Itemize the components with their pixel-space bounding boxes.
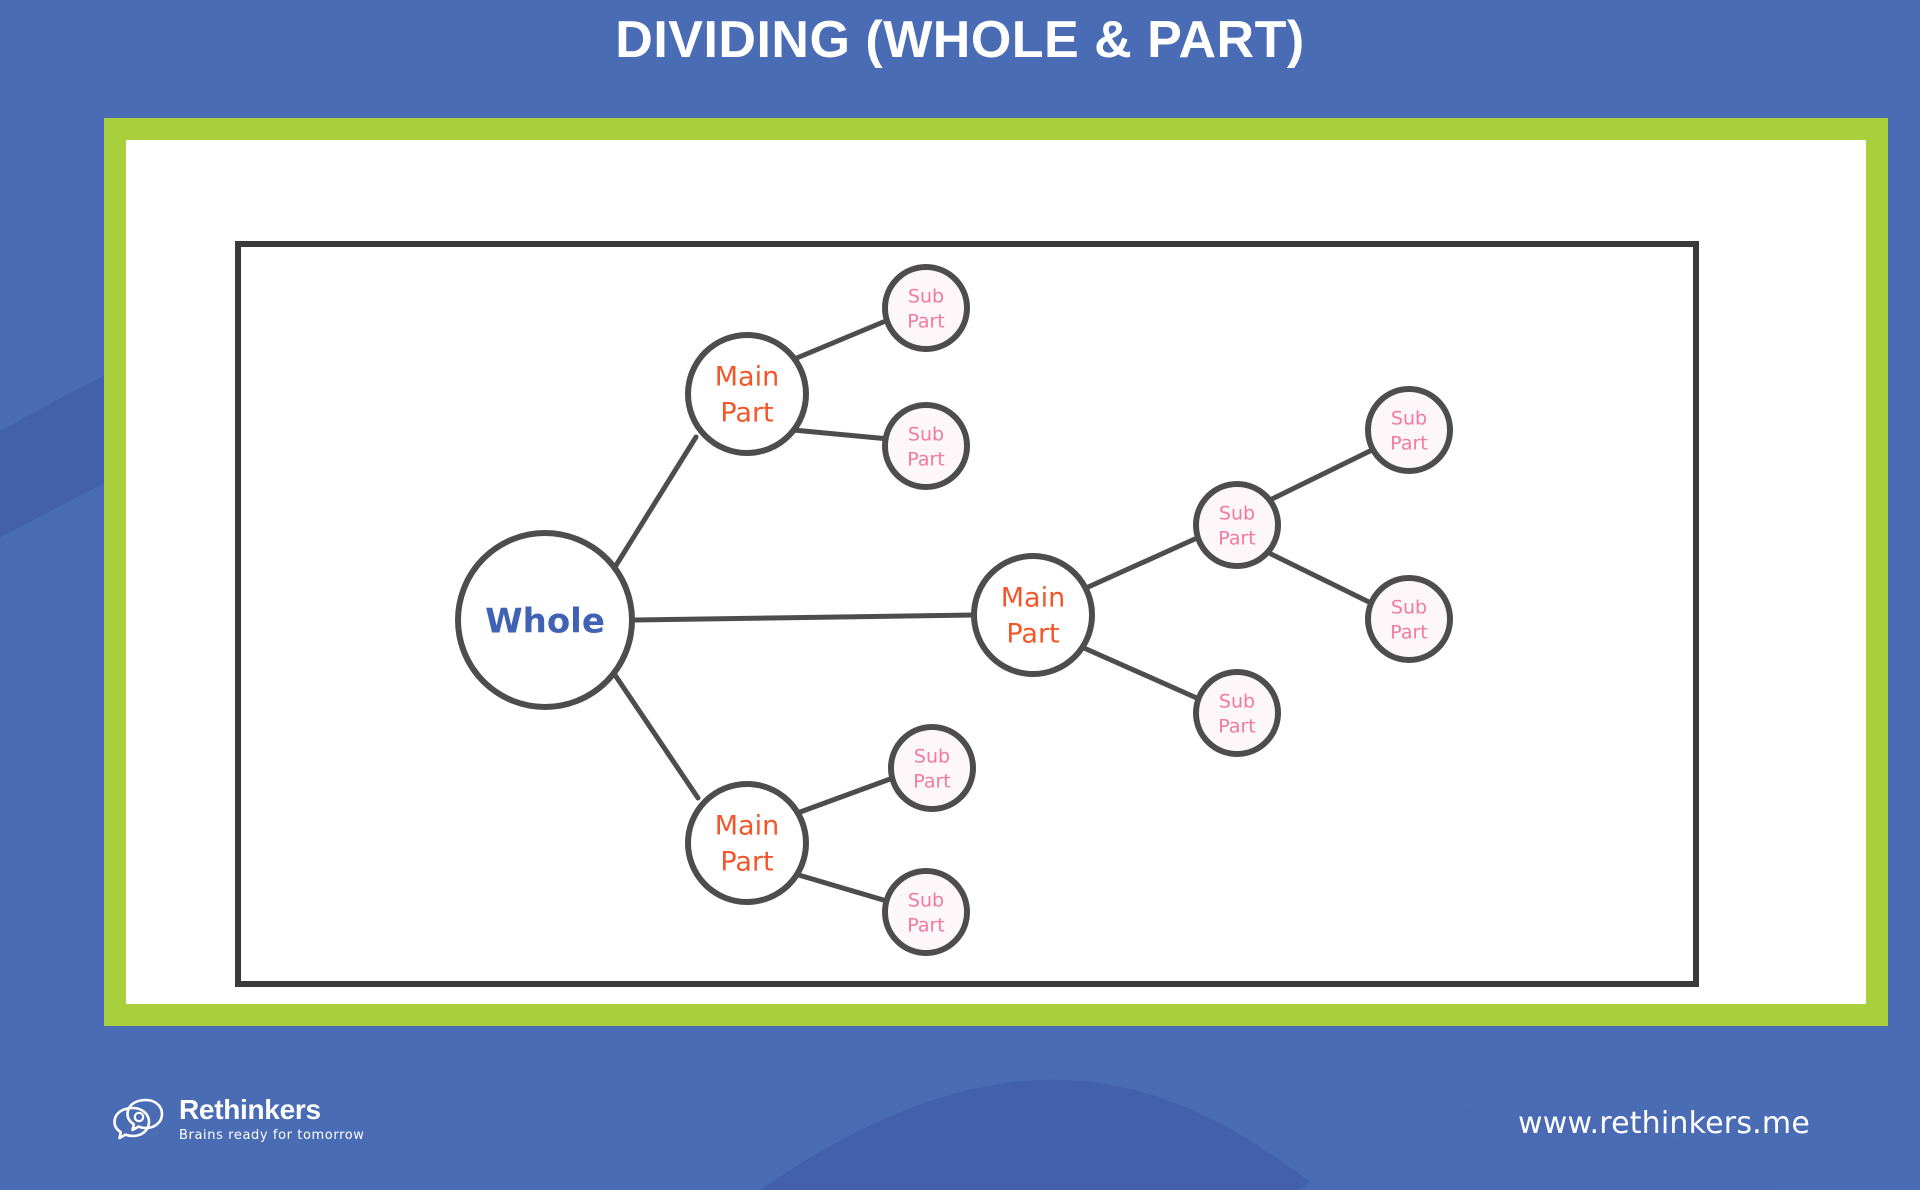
node-sub-3[interactable]: Sub Part <box>1196 484 1278 566</box>
sub-5-circle[interactable] <box>1368 578 1450 660</box>
edge-main-top-to-sub-1 <box>792 320 888 360</box>
swoosh-bottom-a <box>760 1080 1320 1190</box>
sub-6-label-line2: Part <box>1218 716 1256 738</box>
sub-5-label-line1: Sub <box>1391 597 1427 619</box>
node-sub-6[interactable]: Sub Part <box>1196 672 1278 754</box>
sub-7-label-line2: Part <box>913 771 951 793</box>
main-top-circle[interactable] <box>688 335 806 453</box>
sub-6-circle[interactable] <box>1196 672 1278 754</box>
sub-3-label-line1: Sub <box>1219 503 1255 525</box>
edge-main-top-to-sub-2 <box>793 430 889 439</box>
sub-1-label-line2: Part <box>907 311 945 333</box>
slide-canvas: DIVIDING (WHOLE & PART) <box>0 0 1920 1190</box>
root-label: Whole <box>485 602 605 642</box>
edge-sub-upper-to-sub-b <box>1271 554 1373 604</box>
sub-4-label-line2: Part <box>1390 433 1428 455</box>
logo-tagline: Brains ready for tomorrow <box>179 1129 365 1142</box>
main-right-circle[interactable] <box>974 556 1092 674</box>
sub-2-circle[interactable] <box>885 405 967 487</box>
logo-name: Rethinkers <box>179 1096 365 1124</box>
sub-4-circle[interactable] <box>1368 389 1450 471</box>
page-title: DIVIDING (WHOLE & PART) <box>0 12 1920 69</box>
edge-sub-upper-to-sub-a <box>1272 450 1372 499</box>
main-bottom-label-line1: Main <box>715 811 779 842</box>
edge-main-right-to-sub-upper <box>1086 538 1197 588</box>
node-root[interactable]: Whole <box>458 533 632 707</box>
node-main-right[interactable]: Main Part <box>974 556 1092 674</box>
sub-2-label-line2: Part <box>907 449 945 471</box>
sub-1-circle[interactable] <box>885 267 967 349</box>
main-bottom-label-line2: Part <box>720 847 773 878</box>
main-top-label-line2: Part <box>720 398 773 429</box>
node-sub-4[interactable]: Sub Part <box>1368 389 1450 471</box>
sub-3-label-line2: Part <box>1218 528 1256 550</box>
edge-main-right-to-sub-lower <box>1084 648 1199 699</box>
sub-8-label-line1: Sub <box>908 890 944 912</box>
sub-3-circle[interactable] <box>1196 484 1278 566</box>
node-sub-5[interactable]: Sub Part <box>1368 578 1450 660</box>
node-sub-7[interactable]: Sub Part <box>891 727 973 809</box>
edge-root-to-main-right <box>632 615 974 620</box>
sub-2-label-line1: Sub <box>908 424 944 446</box>
sub-8-label-line2: Part <box>907 915 945 937</box>
main-top-label-line1: Main <box>715 362 779 393</box>
logo-wordmark: Rethinkers Brains ready for tomorrow <box>179 1096 365 1142</box>
diagram-border-box: Whole Main Part Main Part Main <box>235 241 1699 987</box>
footer-logo[interactable]: Rethinkers Brains ready for tomorrow <box>112 1095 365 1143</box>
main-right-label-line1: Main <box>1001 583 1065 614</box>
green-frame: Whole Main Part Main Part Main <box>104 118 1888 1026</box>
sub-8-circle[interactable] <box>885 871 967 953</box>
node-sub-2[interactable]: Sub Part <box>885 405 967 487</box>
sub-5-label-line2: Part <box>1390 622 1428 644</box>
white-panel: Whole Main Part Main Part Main <box>126 140 1866 1004</box>
edge-root-to-main-bottom <box>615 675 698 798</box>
sub-1-label-line1: Sub <box>908 286 944 308</box>
node-sub-8[interactable]: Sub Part <box>885 871 967 953</box>
sub-4-label-line1: Sub <box>1391 408 1427 430</box>
node-main-bottom[interactable]: Main Part <box>688 784 806 902</box>
sub-7-label-line1: Sub <box>914 746 950 768</box>
edge-main-bottom-to-sub-1 <box>792 778 893 815</box>
main-right-label-line2: Part <box>1006 619 1059 650</box>
mindmap-svg: Whole Main Part Main Part Main <box>241 247 1693 981</box>
footer-url[interactable]: www.rethinkers.me <box>1518 1106 1810 1141</box>
main-bottom-circle[interactable] <box>688 784 806 902</box>
rethinkers-brain-icon <box>112 1095 166 1143</box>
edge-main-bottom-to-sub-2 <box>792 873 890 902</box>
node-sub-1[interactable]: Sub Part <box>885 267 967 349</box>
edge-root-to-main-top <box>615 437 696 567</box>
sub-6-label-line1: Sub <box>1219 691 1255 713</box>
node-main-top[interactable]: Main Part <box>688 335 806 453</box>
sub-7-circle[interactable] <box>891 727 973 809</box>
